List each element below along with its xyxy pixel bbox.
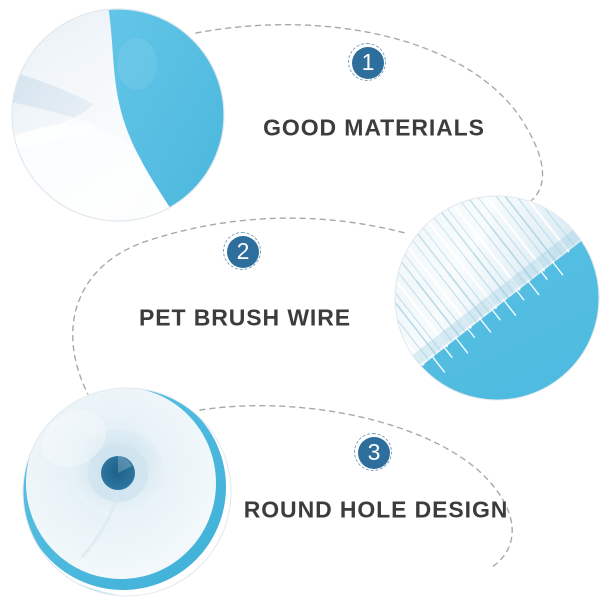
feature-caption-2: PET BRUSH WIRE bbox=[139, 305, 351, 332]
feature-badge-3[interactable]: 3 bbox=[354, 433, 394, 473]
label-layer: 1 GOOD MATERIALS 2 PET BRUSH WIRE 3 ROUN… bbox=[0, 0, 600, 600]
feature-caption-3: ROUND HOLE DESIGN bbox=[244, 497, 508, 524]
feature-badge-2[interactable]: 2 bbox=[223, 232, 263, 272]
badge-number: 1 bbox=[362, 51, 375, 74]
badge-number: 2 bbox=[237, 240, 250, 263]
badge-disc: 3 bbox=[358, 437, 390, 469]
badge-disc: 1 bbox=[352, 47, 384, 79]
feature-infographic: 1 GOOD MATERIALS 2 PET BRUSH WIRE 3 ROUN… bbox=[0, 0, 600, 600]
badge-number: 3 bbox=[368, 441, 381, 464]
feature-caption-1: GOOD MATERIALS bbox=[263, 115, 485, 142]
feature-badge-1[interactable]: 1 bbox=[348, 43, 388, 83]
badge-disc: 2 bbox=[227, 236, 259, 268]
